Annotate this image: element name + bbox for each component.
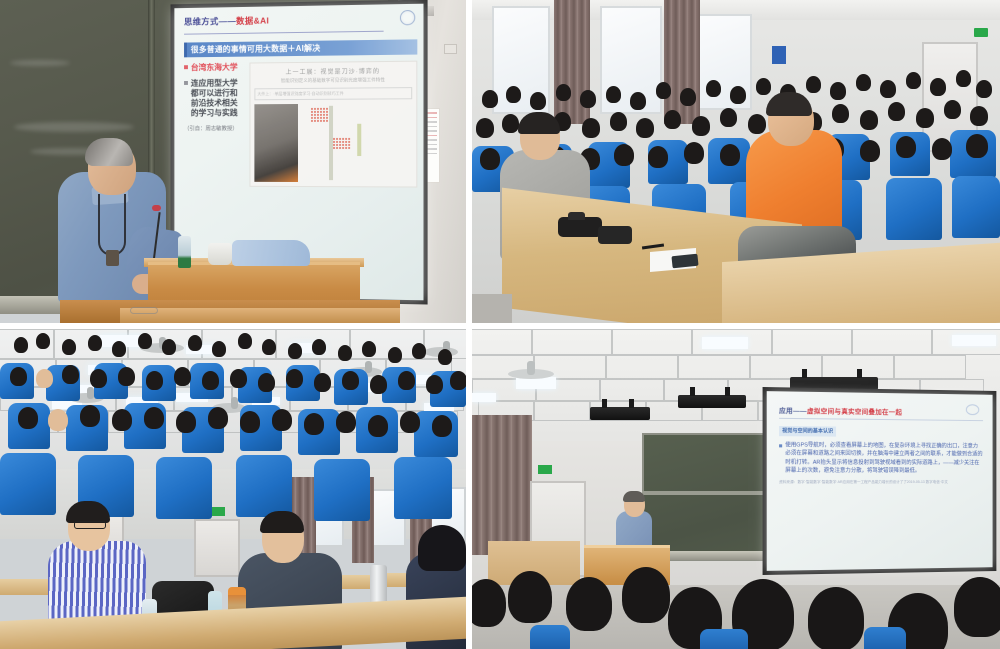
- blue-cloth: [232, 240, 310, 266]
- student-hair: [418, 525, 466, 571]
- foreground-desk: [120, 308, 400, 323]
- slide-paragraph: 使用GPS导航时，必须查看屏幕上的地图，在复杂环境上寻找正确的出口，注意力必须在…: [779, 441, 983, 475]
- panel-top-right: [472, 0, 1000, 323]
- dot-array-diagram: [301, 103, 412, 182]
- slide-title: 应用——虚拟空间与真实空间叠加在一起: [779, 405, 983, 422]
- lanyard: [98, 194, 126, 256]
- bullet-square-icon: [184, 65, 188, 69]
- slide-body: 台湾东海大学 连应用型大学都可以进行和前沿技术相关的学习与实践 （引自：周志敏教…: [184, 61, 417, 188]
- chalk-smudge: [10, 60, 70, 66]
- name-badge: [106, 250, 119, 266]
- bullet-square-icon: [779, 444, 782, 447]
- slide-bullet-item: 连应用型大学都可以进行和前沿技术相关的学习与实践: [184, 78, 244, 118]
- embedded-slide-subtitle: 智能识别定义的基础数字可见识别光度增强工件特性: [254, 77, 412, 84]
- slide-title: 思维方式——数据&AI: [184, 12, 417, 28]
- embedded-slide-title: 上一工展：视觉是刀沙·博弈的: [254, 66, 412, 77]
- slide-bullet-list: 台湾东海大学 连应用型大学都可以进行和前沿技术相关的学习与实践 （引自：周志敏教…: [184, 63, 244, 187]
- exit-sign-icon: [538, 465, 552, 474]
- panel-top-left: 思维方式——数据&AI 很多普通的事情可用大数据＋AI解决 台湾东海大学 连应用…: [0, 0, 466, 323]
- slide-bullet-text: 连应用型大学都可以进行和前沿技术相关的学习与实践: [191, 78, 245, 118]
- slide-citation: （引自：周志敏教授）: [184, 124, 244, 132]
- slide-divider: [184, 31, 384, 35]
- thermal-image: [254, 104, 298, 182]
- floor: [472, 294, 512, 323]
- university-logo-icon: [966, 404, 979, 415]
- paper-cup: [208, 243, 232, 265]
- eyeglasses: [130, 307, 158, 314]
- projection-screen: 应用——虚拟空间与真实空间叠加在一起 视觉与空间的基本认识 使用GPS导航时，必…: [767, 391, 993, 571]
- slide-bullet-text: 台湾东海大学: [191, 63, 238, 73]
- foreground-audience: [472, 569, 1000, 649]
- power-outlet: [444, 44, 457, 54]
- slide-subtitle: 视觉与空间的基本认识: [779, 425, 836, 436]
- presenter-hair: [623, 491, 645, 502]
- wall-notice-board: [772, 46, 786, 64]
- door: [194, 519, 240, 577]
- exit-sign-icon: [974, 28, 988, 37]
- slide-bullet-item: 台湾东海大学: [184, 63, 244, 74]
- bullet-square-icon: [184, 81, 188, 85]
- projector-mount-bar: [678, 395, 746, 408]
- eyeglasses-icon: [74, 521, 106, 529]
- slide-banner: 很多普通的事情可用大数据＋AI解决: [184, 39, 417, 57]
- photo-collage: 思维方式——数据&AI 很多普通的事情可用大数据＋AI解决 台湾东海大学 连应用…: [0, 0, 1000, 649]
- slide-body-text: 使用GPS导航时，必须查看屏幕上的地图，在复杂环境上寻找正确的出口，注意力必须在…: [785, 441, 983, 475]
- ceiling-lamp: [472, 393, 496, 402]
- curtain: [472, 415, 532, 555]
- presenter-hair: [85, 138, 133, 166]
- projector-mount-bar: [590, 407, 650, 420]
- panel-bottom-right: 应用——虚拟空间与真实空间叠加在一起 视觉与空间的基本认识 使用GPS导航时，必…: [472, 329, 1000, 649]
- slide-content: 应用——虚拟空间与真实空间叠加在一起 视觉与空间的基本认识 使用GPS导航时，必…: [767, 391, 993, 491]
- slide-source-footer: 资料来源：数字·智能数字·智能数字·AR应用在第一工程产品能力增长的设计了了20…: [779, 480, 983, 485]
- ceiling-lamp: [952, 335, 996, 346]
- ceiling-fan: [508, 369, 554, 379]
- ceiling-lamp: [702, 337, 748, 349]
- panel-bottom-left: [0, 329, 466, 649]
- camera: [558, 217, 602, 237]
- chalk-smudge: [14, 122, 134, 132]
- water-bottle: [178, 236, 191, 268]
- slide-embedded-figure: 上一工展：视觉是刀沙·博弈的 智能识别定义的基础数字可见识别光度增强工件特性 大…: [249, 61, 417, 188]
- embedded-figure-row: [254, 103, 412, 182]
- microphone-icon: [152, 205, 161, 211]
- camera-bag: [598, 226, 632, 244]
- embedded-slide-note: 大件上：·单层增强识别度学习·自动识别技巧工件: [254, 87, 412, 100]
- exit-sign-icon: [212, 507, 225, 516]
